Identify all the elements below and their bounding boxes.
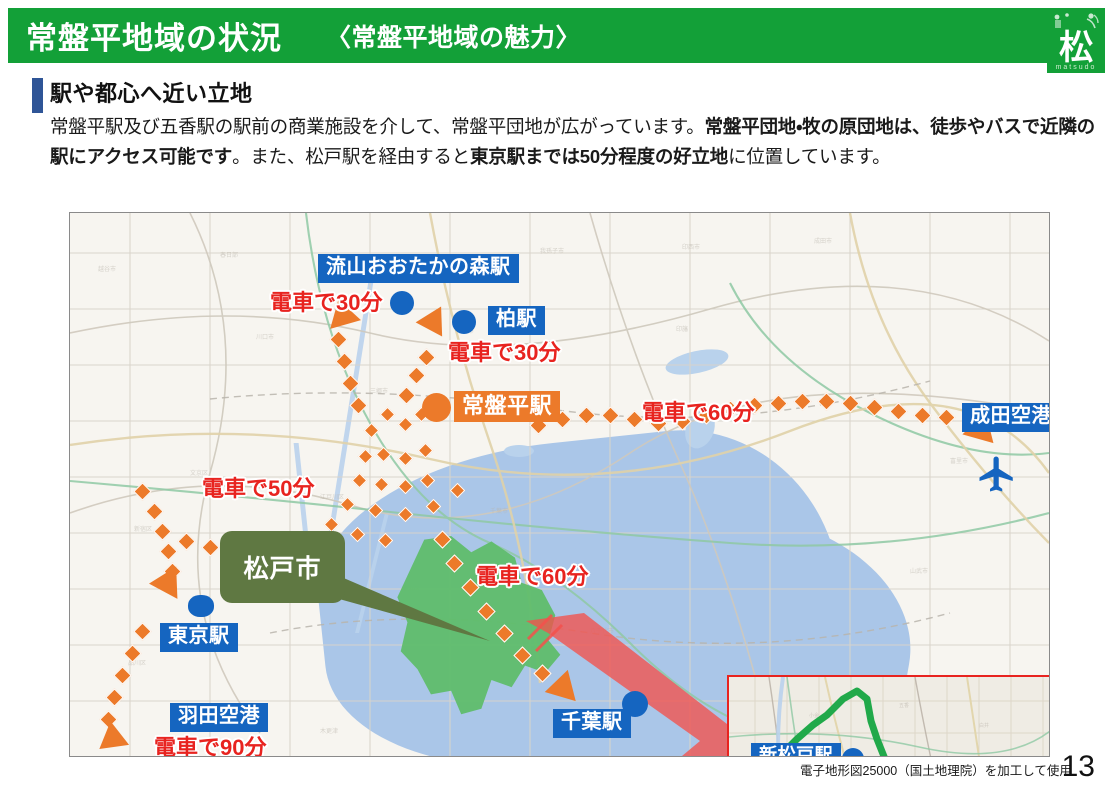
svg-text:春日部: 春日部 — [220, 251, 238, 259]
matsudo-city-callout-label: 松戸市 — [243, 549, 321, 585]
svg-text:三郷市: 三郷市 — [370, 387, 388, 395]
map-credit: 電子地形図25000（国土地理院）を加工して使用 — [800, 760, 1072, 779]
body-text-part1: 常盤平駅及び五香駅の駅前の商業施設を介して、常盤平団地が広がっています。 — [50, 116, 705, 137]
svg-text:印旛: 印旛 — [676, 325, 688, 333]
station-dot-kashiwa[interactable] — [452, 310, 476, 334]
travel-time-kashiwa: 電車で30分 — [448, 335, 560, 367]
page-subtitle: 〈常盤平地域の魅力〉 — [326, 18, 581, 54]
svg-text:富里市: 富里市 — [950, 457, 968, 465]
airplane-icon — [976, 453, 1018, 495]
travel-time-haneda: 電車で90分 — [154, 730, 266, 757]
map-canvas: 越谷市春日部我孫子市 印西市成田市川口市 柏市印旛三郷市 船橋市四街道文京区 江… — [70, 213, 1049, 756]
svg-text:山武市: 山武市 — [910, 567, 928, 575]
station-label-narita-airport[interactable]: 成田空港 — [962, 403, 1050, 432]
svg-text:江戸川区: 江戸川区 — [320, 494, 344, 501]
svg-text:成田市: 成田市 — [814, 237, 832, 245]
logo-decoration-icon — [1047, 11, 1105, 31]
travel-time-narita: 電車で60分 — [642, 395, 754, 427]
station-label-chiba[interactable]: 千葉駅 — [553, 709, 631, 738]
matsudo-logo: 松 matsudo — [1047, 8, 1105, 73]
station-dot-tokiwadaira[interactable] — [422, 393, 451, 422]
logo-kanji: 松 — [1059, 32, 1093, 64]
inset-station-label-shin-matsudo[interactable]: 新松戸駅 — [751, 743, 841, 757]
svg-text:新宿区: 新宿区 — [134, 525, 152, 533]
station-label-kashiwa[interactable]: 柏駅 — [488, 306, 545, 335]
body-text-part2: 。また、松戸駅を経由すると — [232, 146, 470, 167]
logo-wordmark: matsudo — [1056, 64, 1097, 71]
station-dot-tokyo[interactable] — [188, 595, 214, 617]
page-number: 13 — [1062, 750, 1095, 784]
section-heading: 駅や都心へ近い立地 — [50, 76, 253, 108]
station-label-tokiwadaira[interactable]: 常盤平駅 — [454, 391, 560, 422]
callout-pointer — [332, 563, 492, 649]
header-banner: 常盤平地域の状況 〈常盤平地域の魅力〉 松 matsudo — [8, 8, 1105, 63]
matsudo-city-callout: 松戸市 — [220, 531, 345, 603]
page-title: 常盤平地域の状況 — [26, 13, 282, 58]
station-dot-nagareyama-ootakanomori[interactable] — [390, 291, 414, 315]
travel-time-chiba: 電車で60分 — [476, 559, 588, 591]
inset-map: 小金五香白井 松戸常盤平鎌ケ谷 矢切東松戸船橋 新松戸駅 松戸駅 常盤平駅 — [727, 675, 1050, 757]
section-accent-bar — [32, 78, 43, 113]
svg-text:千葉市: 千葉市 — [490, 507, 508, 515]
svg-text:印西市: 印西市 — [682, 243, 700, 251]
body-paragraph: 常盤平駅及び五香駅の駅前の商業施設を介して、常盤平団地が広がっています。常盤平団… — [50, 112, 1095, 172]
svg-text:我孫子市: 我孫子市 — [540, 247, 564, 255]
body-text-bold2: 東京駅までは50分程度の好立地 — [470, 146, 728, 167]
travel-time-nagareyama: 電車で30分 — [270, 285, 382, 317]
body-text-part3: に位置しています。 — [728, 146, 890, 167]
travel-time-tokyo: 電車で50分 — [202, 471, 314, 503]
station-label-tokyo[interactable]: 東京駅 — [160, 623, 238, 652]
svg-text:越谷市: 越谷市 — [98, 265, 116, 273]
station-label-haneda-airport[interactable]: 羽田空港 — [170, 703, 268, 732]
svg-text:川口市: 川口市 — [256, 333, 274, 341]
svg-text:木更津: 木更津 — [320, 727, 338, 735]
map-figure: 越谷市春日部我孫子市 印西市成田市川口市 柏市印旛三郷市 船橋市四街道文京区 江… — [69, 212, 1050, 757]
station-label-nagareyama-ootakanomori[interactable]: 流山おおたかの森駅 — [318, 254, 519, 283]
